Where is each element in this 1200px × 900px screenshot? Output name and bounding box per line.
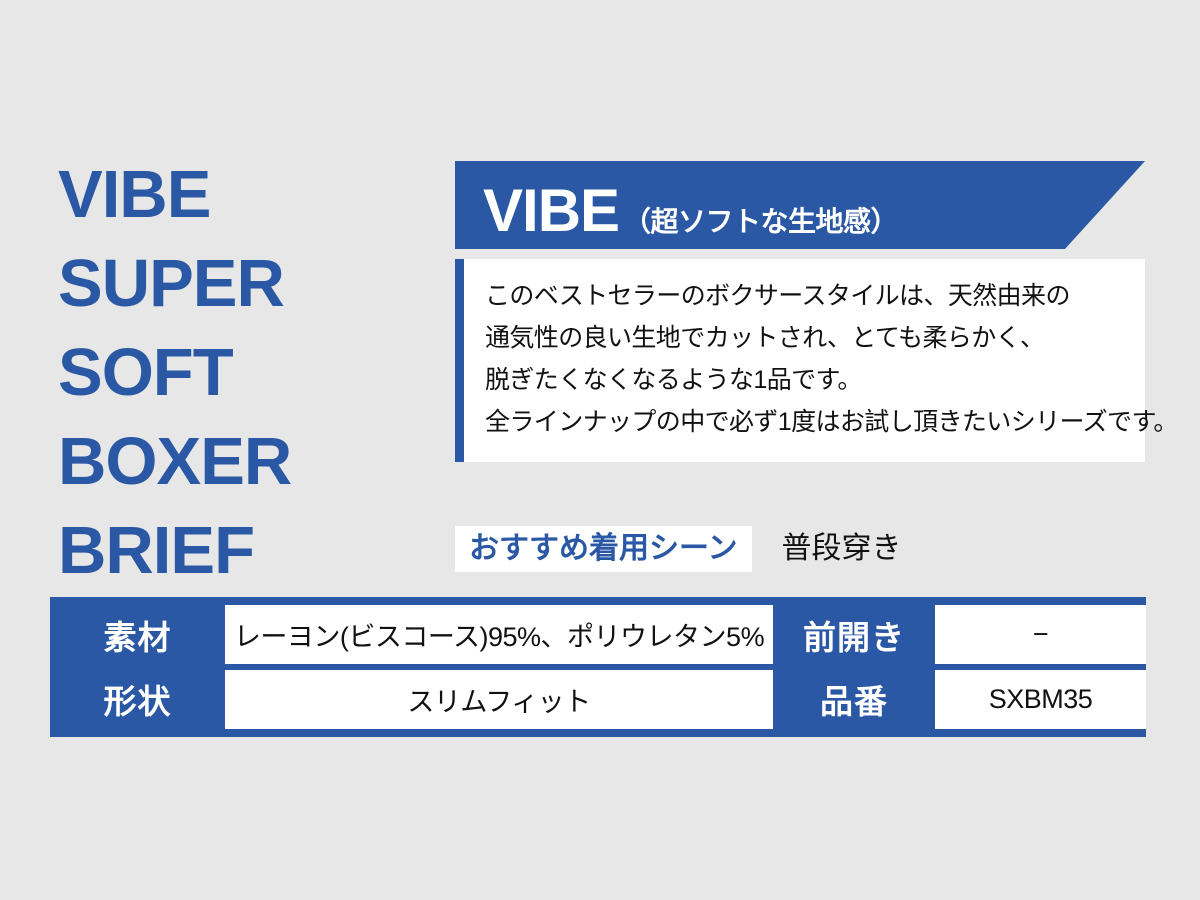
spec-value-product-number: SXBM35 — [935, 670, 1146, 729]
description-text: このベストセラーのボクサースタイルは、天然由来の 通気性の良い生地でカットされ、… — [485, 275, 1137, 443]
recommended-scene-value: 普段穿き — [782, 534, 902, 564]
spec-label-material: 素材 — [50, 603, 225, 667]
series-banner: VIBE （超ソフトな生地感） — [455, 161, 1145, 249]
product-title: VIBE SUPER SOFT BOXER BRIEF — [58, 150, 438, 595]
product-title-line-2: SUPER — [58, 239, 438, 328]
description-panel: このベストセラーのボクサースタイルは、天然由来の 通気性の良い生地でカットされ、… — [455, 259, 1145, 462]
series-banner-title: VIBE — [483, 181, 619, 241]
spec-value-material: レーヨン(ビスコース)95%、ポリウレタン5% — [225, 605, 773, 664]
description-line-4: 全ラインナップの中で必ず1度はお試し頂きたいシリーズです。 — [485, 401, 1137, 443]
spec-value-shape: スリムフィット — [225, 670, 773, 729]
product-info-graphic: VIBE SUPER SOFT BOXER BRIEF VIBE （超ソフトな生… — [0, 0, 1200, 900]
spec-value-fly: − — [935, 605, 1146, 664]
description-line-3: 脱ぎたくなくなるような1品です。 — [485, 359, 1137, 401]
product-title-line-1: VIBE — [58, 150, 438, 239]
series-banner-subtitle: （超ソフトな生地感） — [623, 208, 898, 236]
product-title-line-5: BRIEF — [58, 506, 438, 595]
recommended-scene-row: おすすめ着用シーン 普段穿き — [455, 526, 902, 572]
product-title-line-4: BOXER — [58, 417, 438, 506]
spec-label-fly: 前開き — [773, 603, 935, 667]
spec-label-shape: 形状 — [50, 667, 225, 731]
spec-table: 素材 レーヨン(ビスコース)95%、ポリウレタン5% 前開き − 形状 スリムフ… — [50, 597, 1146, 737]
product-title-line-3: SOFT — [58, 328, 438, 417]
series-banner-content: VIBE （超ソフトな生地感） — [483, 181, 898, 241]
description-line-1: このベストセラーのボクサースタイルは、天然由来の — [485, 275, 1137, 317]
recommended-scene-label: おすすめ着用シーン — [455, 526, 752, 572]
spec-label-product-number: 品番 — [773, 667, 935, 731]
description-line-2: 通気性の良い生地でカットされ、とても柔らかく、 — [485, 317, 1137, 359]
